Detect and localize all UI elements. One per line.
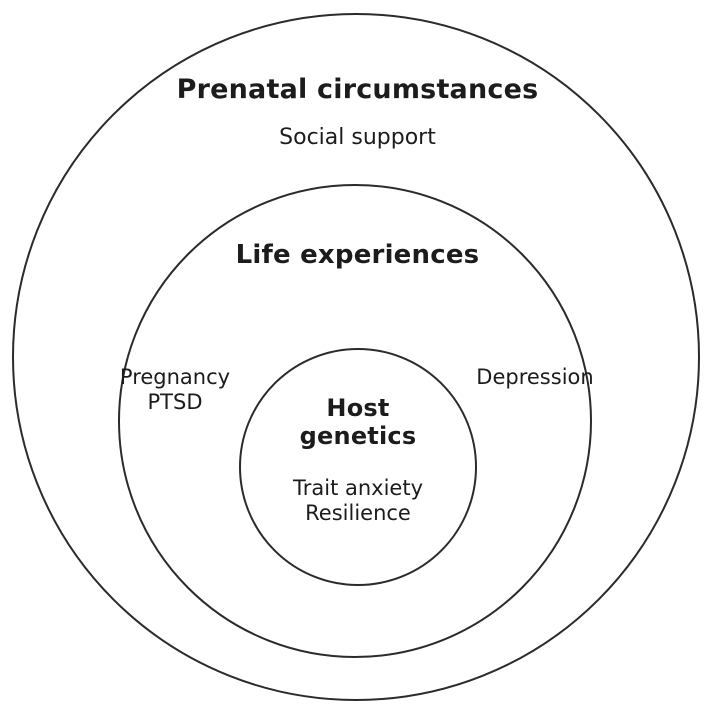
outer-circle-ring	[13, 14, 699, 700]
middle-ring-title: Life experiences	[0, 240, 715, 271]
outer-ring-item-social-support: Social support	[0, 125, 715, 151]
middle-ring-items-right: Depression	[435, 365, 635, 390]
inner-circle-title: Host genetics	[240, 394, 476, 451]
inner-circle-items: Trait anxiety Resilience	[240, 476, 476, 526]
rings-svg	[0, 0, 715, 716]
concentric-circles-diagram: Prenatal circumstances Social support Li…	[0, 0, 715, 716]
outer-ring-title: Prenatal circumstances	[0, 74, 715, 106]
